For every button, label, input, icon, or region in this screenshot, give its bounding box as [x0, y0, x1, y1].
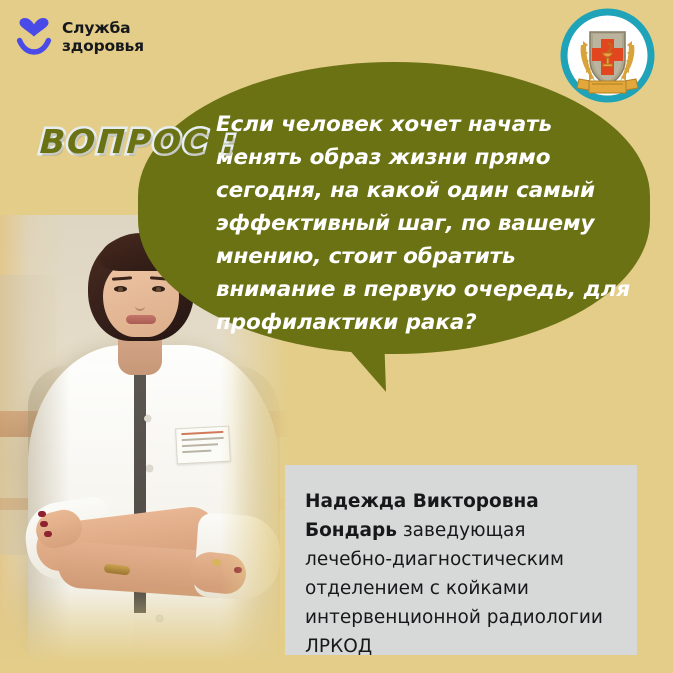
eye-right — [152, 286, 165, 292]
coat-button — [144, 415, 151, 422]
heart-smile-icon — [16, 18, 52, 56]
poster-root: Если человек хочет начать менять образ ж… — [0, 0, 673, 673]
speaker-card: Надежда Викторовна Бондарь заведующая ле… — [285, 465, 637, 655]
brand-logo-line2: здоровья — [62, 37, 144, 55]
speaker-text: Надежда Викторовна Бондарь заведующая ле… — [305, 487, 617, 661]
brand-logo-text: Служба здоровья — [62, 19, 144, 55]
brand-logo: Служба здоровья — [16, 18, 144, 56]
brand-logo-line1: Служба — [62, 19, 144, 37]
coat-button — [146, 465, 153, 472]
photo-fade-bottom — [0, 587, 300, 673]
fingernail — [44, 531, 52, 537]
eye-left — [114, 286, 127, 292]
nose — [135, 297, 145, 311]
medical-shield-emblem — [559, 7, 656, 104]
question-label: ВОПРОС : — [39, 122, 239, 161]
question-text: Если человек хочет начать менять образ ж… — [216, 108, 636, 339]
fingernail — [40, 521, 48, 527]
fingernail — [38, 511, 46, 517]
lips — [126, 315, 156, 324]
